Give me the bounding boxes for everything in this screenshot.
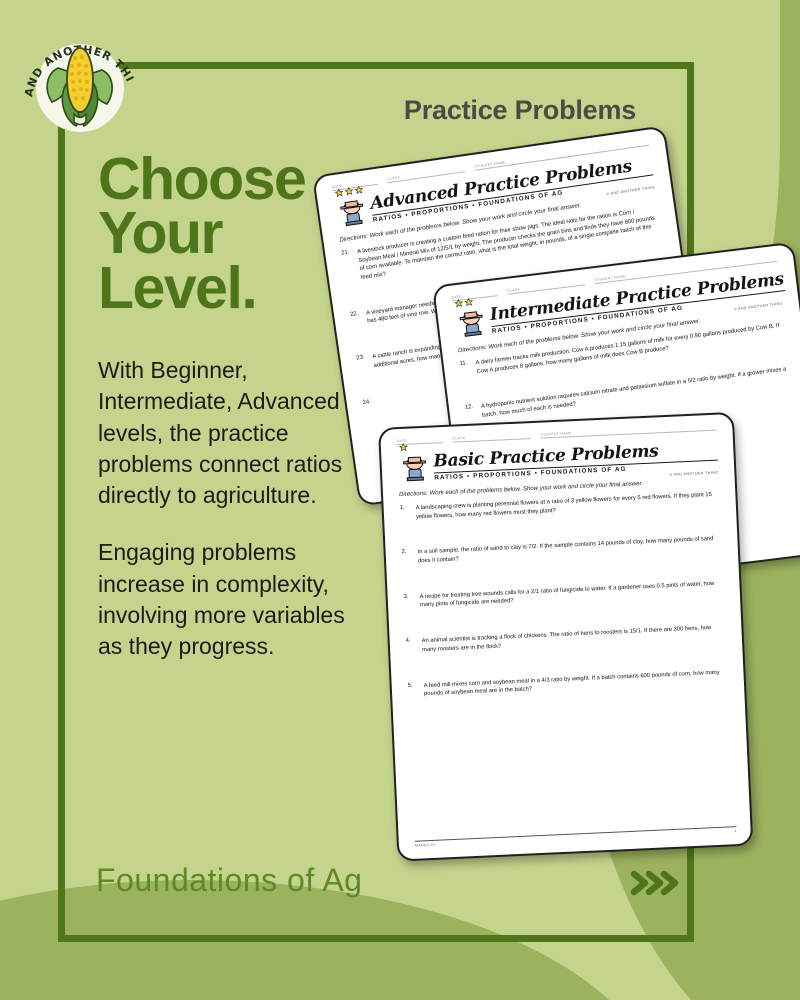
problem-text: A feed mill mixes corn and soybean meal … (424, 668, 728, 699)
footer-page-number: 4 (734, 829, 737, 833)
triple-chevron-right-icon (630, 868, 682, 898)
corn-cob-icon: AND ANOTHER THING (22, 22, 138, 138)
hero-line-2: Your (98, 206, 358, 260)
worksheet-basic[interactable]: DATE CLASS STUDENT NAME (378, 412, 753, 862)
brand-logo: AND ANOTHER THING (22, 22, 138, 138)
problem-text: In a soil sample, the ratio of sand to c… (418, 535, 722, 566)
star-icon (454, 298, 464, 308)
problem-text: An animal scientist is tracking a flock … (422, 624, 726, 655)
worksheet-problem: 2. In a soil sample, the ratio of sand t… (402, 535, 722, 567)
worksheet-problem: 12. A hydroponic nutrient solution requi… (465, 365, 793, 422)
worksheet-problem: 3. A recipe for treating tree wounds cal… (404, 579, 724, 611)
hero-heading: Choose Your Level. (98, 152, 358, 315)
farmer-mascot-icon (397, 449, 433, 485)
problem-text: A recipe for treating tree wounds calls … (420, 579, 724, 610)
worksheet-problem: 4. An animal scientist is tracking a flo… (406, 624, 726, 656)
footer-code: MAPK0.04 (415, 843, 436, 848)
hero-line-1: Choose (98, 152, 358, 206)
problem-number: 4. (406, 637, 423, 655)
mascot-icon (453, 302, 491, 340)
problem-text: A hydroponic nutrient solution requires … (481, 365, 793, 420)
worksheet-brand: © AND ANOTHER THING (669, 471, 718, 477)
worksheet-problem-list: 11. A dairy farmer tracks milk productio… (459, 321, 792, 422)
star-icon (399, 443, 408, 452)
worksheet-footer: MAPK0.04 4 (415, 826, 737, 848)
farmer-mascot-icon (453, 302, 491, 340)
meta-class-label: CLASS (452, 433, 530, 443)
hero-line-3: Level. (98, 261, 358, 315)
problem-number: 3. (404, 593, 421, 611)
problem-number: 1. (400, 504, 417, 522)
poster-canvas: AND ANOTHER THING Practice Problems Choo… (0, 0, 800, 1000)
body-paragraph-1: With Beginner, Intermediate, Advanced le… (98, 355, 360, 511)
star-icon (464, 297, 474, 307)
tagline: Foundations of Ag (96, 862, 362, 899)
page-title: Practice Problems (330, 95, 710, 126)
problem-number: 2. (402, 549, 419, 567)
body-copy: With Beginner, Intermediate, Advanced le… (98, 355, 360, 662)
difficulty-stars (399, 443, 408, 452)
worksheet-problem-list: 1. A landscaping crew is planting perenn… (400, 491, 729, 700)
body-paragraph-2: Engaging problems increase in complexity… (98, 537, 360, 662)
problem-number: 24. (362, 397, 379, 405)
mascot-icon (397, 449, 433, 485)
problem-number: 5. (408, 682, 425, 700)
worksheet-problem: 5. A feed mill mixes corn and soybean me… (408, 668, 728, 700)
